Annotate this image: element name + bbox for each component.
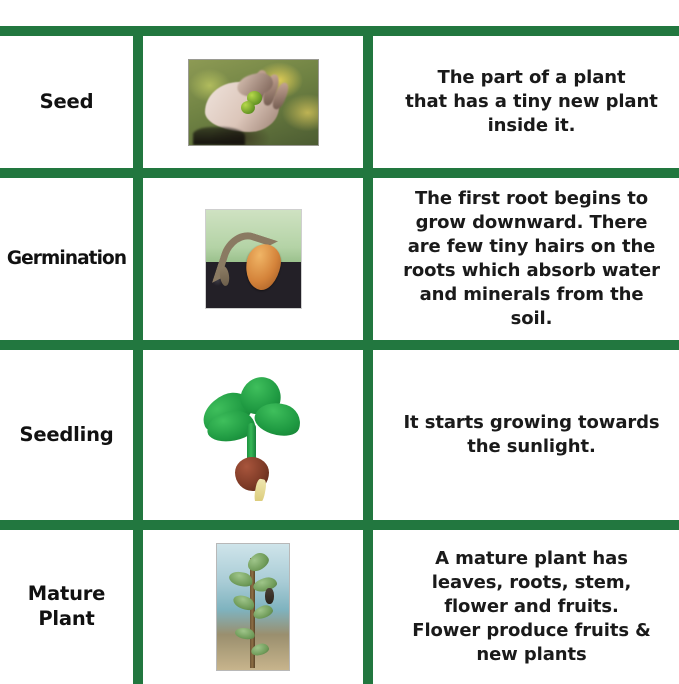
hand-holding-seeds-photo bbox=[188, 59, 319, 146]
description-cell-seed: The part of a plant that has a tiny new … bbox=[373, 36, 679, 168]
column-divider bbox=[133, 36, 143, 168]
description-text: The first root begins to grow downward. … bbox=[403, 187, 660, 331]
stage-label: Germination bbox=[7, 247, 126, 271]
column-divider bbox=[363, 350, 373, 520]
stage-label: Seed bbox=[40, 90, 94, 115]
table-top-border bbox=[0, 26, 679, 36]
column-divider bbox=[363, 36, 373, 168]
description-cell-seedling: It starts growing towards the sunlight. bbox=[373, 350, 679, 520]
row-divider bbox=[0, 520, 679, 530]
stage-cell-germination: Germination bbox=[0, 178, 133, 340]
table-row: Germination The first root begins to gro… bbox=[0, 178, 679, 340]
column-divider bbox=[133, 178, 143, 340]
stage-cell-seedling: Seedling bbox=[0, 350, 133, 520]
column-divider bbox=[363, 178, 373, 340]
germinating-seed-photo bbox=[205, 209, 302, 309]
row-divider bbox=[0, 168, 679, 178]
image-cell-germination bbox=[143, 178, 363, 340]
seedling-sprout-illustration bbox=[193, 369, 313, 501]
column-divider bbox=[133, 530, 143, 684]
description-text: A mature plant has leaves, roots, stem, … bbox=[412, 547, 650, 667]
plant-lifecycle-table: Seed The part of a plant that has a tiny… bbox=[0, 26, 679, 684]
table-row: Seedling It starts growing towards the s… bbox=[0, 350, 679, 520]
stage-label: Mature Plant bbox=[2, 582, 131, 632]
stage-label: Seedling bbox=[19, 423, 113, 448]
stage-cell-seed: Seed bbox=[0, 36, 133, 168]
table-row: Mature Plant A mature plant has l bbox=[0, 530, 679, 684]
image-cell-seedling bbox=[143, 350, 363, 520]
row-divider bbox=[0, 340, 679, 350]
description-text: The part of a plant that has a tiny new … bbox=[405, 66, 657, 138]
mature-plant-photo bbox=[216, 543, 290, 671]
description-cell-germination: The first root begins to grow downward. … bbox=[373, 178, 679, 340]
description-text: It starts growing towards the sunlight. bbox=[403, 411, 659, 459]
image-cell-seed bbox=[143, 36, 363, 168]
column-divider bbox=[133, 350, 143, 520]
description-cell-mature-plant: A mature plant has leaves, roots, stem, … bbox=[373, 530, 679, 684]
table-row: Seed The part of a plant that has a tiny… bbox=[0, 36, 679, 168]
column-divider bbox=[363, 530, 373, 684]
stage-cell-mature-plant: Mature Plant bbox=[0, 530, 133, 684]
image-cell-mature-plant bbox=[143, 530, 363, 684]
